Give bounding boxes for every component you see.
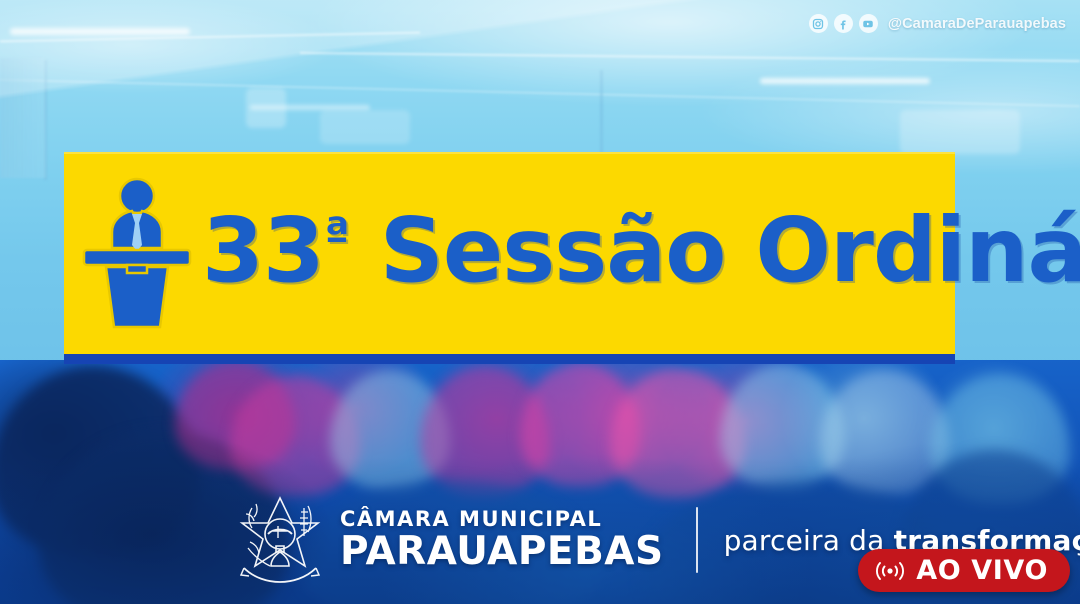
session-title-text: 33ª Sessão Ordinária bbox=[202, 206, 1080, 301]
session-ordinal: ª bbox=[324, 207, 350, 261]
youtube-icon[interactable] bbox=[859, 14, 878, 33]
broadcast-live-icon bbox=[874, 559, 906, 583]
brand-line-2: PARAUAPEBAS bbox=[340, 532, 664, 571]
session-title-rest: Sessão Ordinária bbox=[350, 198, 1080, 302]
brand-text: CÂMARA MUNICIPAL PARAUAPEBAS bbox=[340, 509, 664, 571]
live-badge-label: AO VIVO bbox=[916, 557, 1048, 584]
lockup-divider bbox=[696, 507, 698, 573]
live-badge[interactable]: AO VIVO bbox=[858, 549, 1070, 592]
instagram-icon[interactable] bbox=[809, 14, 828, 33]
session-title-banner: 33ª Sessão Ordinária bbox=[64, 152, 955, 354]
social-handle-text: @CamaraDeParauapebas bbox=[888, 16, 1066, 32]
speaker-podium-icon bbox=[78, 174, 196, 332]
broadcast-overlay-stage: @CamaraDeParauapebas 33ª Sessão Ordinári… bbox=[0, 0, 1080, 604]
session-number: 33 bbox=[202, 198, 324, 302]
brand-line-1: CÂMARA MUNICIPAL bbox=[340, 509, 664, 530]
social-handles-bar: @CamaraDeParauapebas bbox=[809, 14, 1066, 33]
parauapebas-coat-of-arms-icon bbox=[232, 490, 328, 590]
banner-underline bbox=[64, 354, 955, 364]
facebook-icon[interactable] bbox=[834, 14, 853, 33]
